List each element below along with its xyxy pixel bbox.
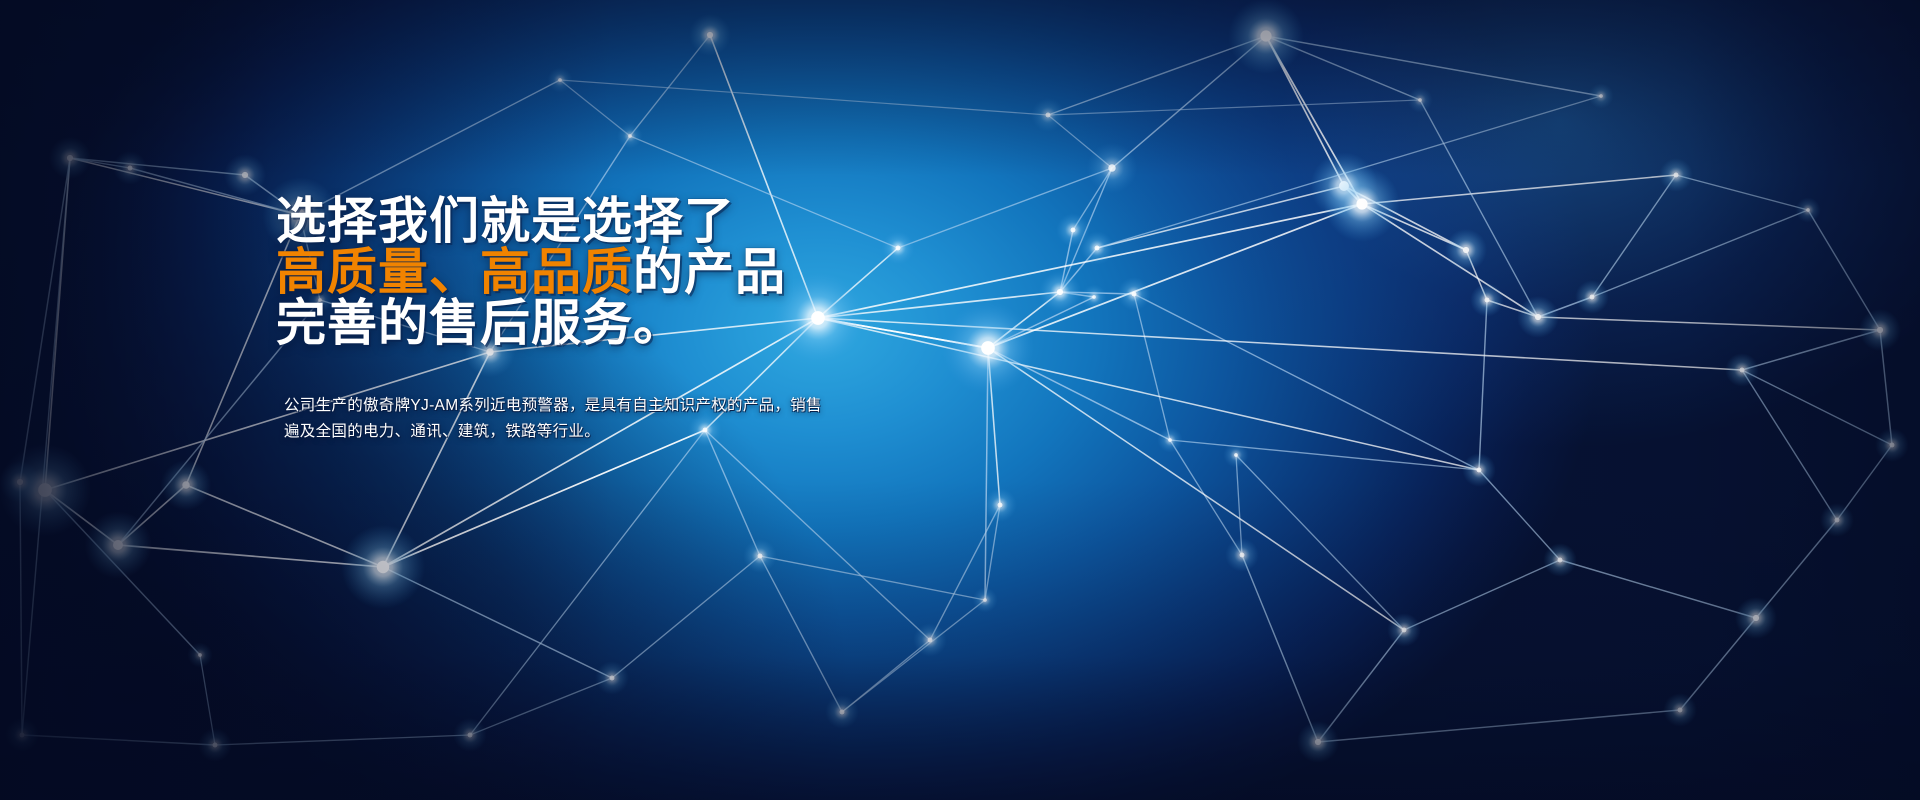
headline-line-2-rest: 的产品 (633, 244, 786, 300)
hero-copy-block: 选择我们就是选择了 高质量、高品质的产品 完善的售后服务。 公司生产的傲奇牌YJ… (276, 196, 1016, 445)
headline-accent-text: 高质量、高品质 (276, 244, 633, 300)
headline-line-3: 完善的售后服务。 (276, 298, 1016, 349)
hero-description: 公司生产的傲奇牌YJ-AM系列近电预警器，是具有自主知识产权的产品，销售遍及全国… (284, 393, 824, 445)
page-title: 选择我们就是选择了 高质量、高品质的产品 完善的售后服务。 (276, 196, 1016, 349)
headline-line-2: 高质量、高品质的产品 (276, 247, 1016, 298)
headline-line-1: 选择我们就是选择了 (276, 196, 1016, 247)
hero-banner: 选择我们就是选择了 高质量、高品质的产品 完善的售后服务。 公司生产的傲奇牌YJ… (0, 0, 1920, 800)
